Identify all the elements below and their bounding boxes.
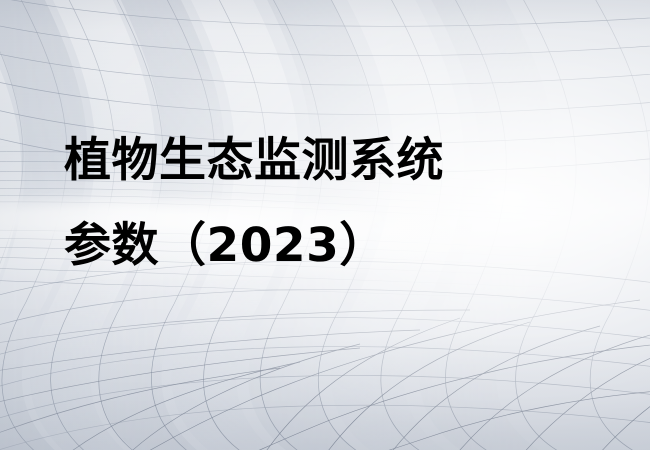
slide-title-line-1: 植物生态监测系统 bbox=[64, 118, 624, 203]
slide-title: 植物生态监测系统 参数（2023） bbox=[64, 118, 624, 288]
presentation-slide: 植物生态监测系统 参数（2023） bbox=[0, 0, 650, 450]
slide-title-line-2: 参数（2023） bbox=[64, 203, 624, 288]
